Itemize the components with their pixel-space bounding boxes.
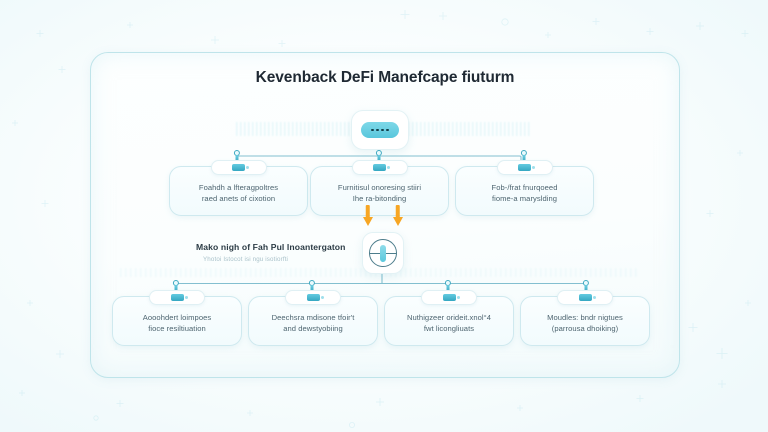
chip-icon [149,290,205,305]
flow-card[interactable]: Moudles: bndr nigtues (parrousa dhoiking… [520,296,650,346]
card-label: Moudles: bndr nigtues (parrousa dhoiking… [540,312,630,334]
diagram-canvas: Kevenback DeFi Manefcape fiuturm [0,0,768,432]
card-label: Deechsra mdisone tfoir't and dewstyobiin… [265,312,362,334]
flow-card[interactable]: Furnitisul onoresing stiiri Ihe ra-biton… [310,166,449,216]
card-label: Nuthigzeer orideit.xnol°4 fwt licongliua… [400,312,498,334]
page-title: Kevenback DeFi Manefcape fiuturm [91,69,679,87]
chip-icon [421,290,477,305]
chip-icon [557,290,613,305]
root-node[interactable] [351,110,409,150]
circle-battery-icon [369,239,397,267]
chip-icon [285,290,341,305]
down-arrow-left-icon [362,205,373,227]
chip-icon [497,160,553,175]
flow-card[interactable]: Deechsra mdisone tfoir't and dewstyobiin… [248,296,378,346]
down-arrow-right-icon [392,205,403,227]
mid-section-subtitle: Yhotoi Istocot isi ngu isotiorfti [203,256,288,263]
flow-card[interactable]: Aooohdert loimpoes fioce resiltiuation [112,296,242,346]
card-label: Fob-/frat fnurqoeed fiome-a maryslding [485,182,565,204]
middle-node[interactable] [362,232,404,274]
card-label: Aooohdert loimpoes fioce resiltiuation [136,312,218,334]
chip-icon [211,160,267,175]
flow-card[interactable]: Fob-/frat fnurqoeed fiome-a maryslding [455,166,594,216]
flow-card[interactable]: Nuthigzeer orideit.xnol°4 fwt licongliua… [384,296,514,346]
card-label: Foahdh a lfteragpoltres raed anets of ci… [192,182,285,204]
flow-card[interactable]: Foahdh a lfteragpoltres raed anets of ci… [169,166,308,216]
chip-icon [352,160,408,175]
mid-section-heading: Mako nigh of Fah Pul lnoantergaton [196,242,346,252]
chip-pill-icon [361,122,399,138]
card-label: Furnitisul onoresing stiiri Ihe ra-biton… [331,182,428,204]
